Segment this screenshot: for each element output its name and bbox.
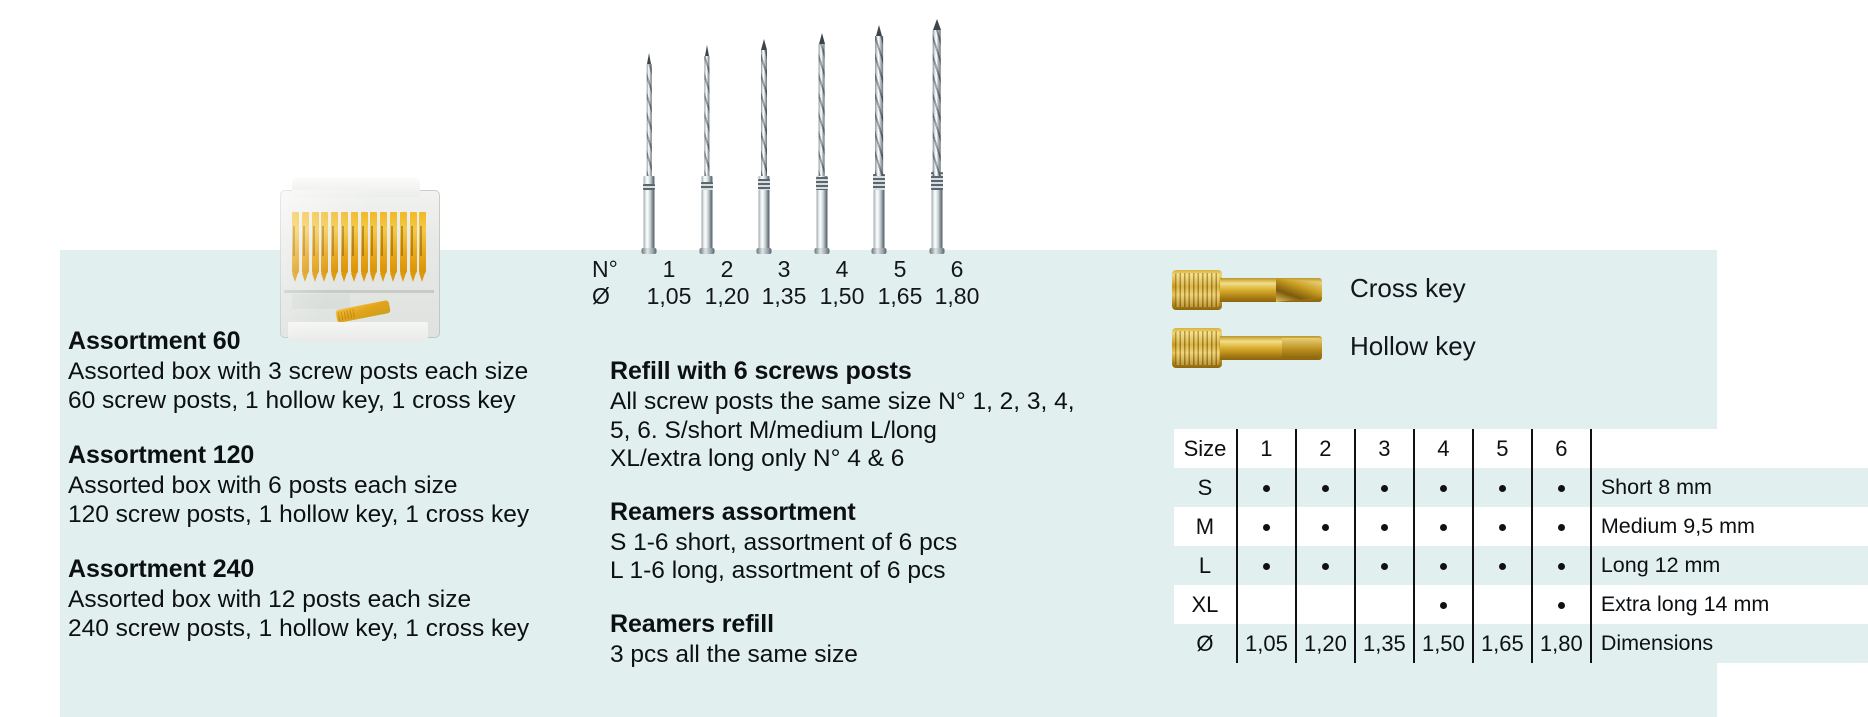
assortment-line: Assorted box with 6 posts each size	[68, 472, 588, 501]
availability-dot-icon	[1558, 524, 1565, 531]
reamer-depth-rings	[643, 184, 655, 190]
availability-dot-icon	[1263, 524, 1270, 531]
box-lid	[292, 177, 420, 197]
availability-dot-icon	[1558, 485, 1565, 492]
reamer-number-row: N° 123456	[586, 256, 1006, 283]
screw-post	[400, 212, 407, 274]
reamer-tip	[761, 39, 767, 50]
reamer-depth-rings	[701, 182, 713, 190]
reamer-collar	[699, 248, 714, 254]
reamer-tip	[819, 33, 825, 44]
reamer-number-1: 1	[641, 256, 697, 283]
size-table-cell-6	[1532, 585, 1591, 624]
size-table-cell-3: 3	[1355, 429, 1414, 468]
size-table-cell-3	[1355, 507, 1414, 546]
size-table-cell-5	[1473, 546, 1532, 585]
size-table-cell-1: 1	[1237, 429, 1296, 468]
reamer-diameter-2: 1,20	[699, 283, 755, 310]
size-table-description: Medium 9,5 mm	[1591, 507, 1868, 546]
key-label: Cross key	[1350, 273, 1466, 304]
reamer-collar	[757, 248, 772, 254]
reamer-flute	[647, 64, 652, 176]
reamer-collar	[642, 248, 657, 254]
size-table-row: XLExtra long 14 mm	[1174, 585, 1868, 624]
reamer-size-legend: N° 123456 Ø 1,051,201,351,501,651,80	[586, 256, 1006, 312]
size-table-row-label: L	[1174, 546, 1237, 585]
assortment-text-column: Assortment 60Assorted box with 3 screw p…	[68, 327, 588, 669]
reamer-diameter-3: 1,35	[756, 283, 812, 310]
assortment-box-image	[268, 172, 454, 348]
size-table-cell-2	[1296, 468, 1355, 507]
reamer-flute	[932, 30, 941, 176]
size-table-cell-1: 1,05	[1237, 624, 1296, 663]
size-table-row-label: XL	[1174, 585, 1237, 624]
assortment-line: Assorted box with 3 screw posts each siz…	[68, 358, 588, 387]
size-table-description: Short 8 mm	[1591, 468, 1868, 507]
reamer-6	[924, 20, 950, 252]
size-table-row-label: Size	[1174, 429, 1237, 468]
refill-text-column: Refill with 6 screws postsAll screw post…	[610, 357, 1130, 693]
refill-line: 5, 6. S/short M/medium L/long	[610, 417, 1130, 446]
size-table-diameter-row: Ø1,051,201,351,501,651,80Dimensions	[1174, 624, 1868, 663]
reamer-diameter-row: Ø 1,051,201,351,501,651,80	[586, 283, 1006, 310]
size-table-row-label: S	[1174, 468, 1237, 507]
screw-post	[419, 212, 426, 274]
availability-dot-icon	[1381, 524, 1388, 531]
availability-dot-icon	[1440, 563, 1447, 570]
refill-block-1: Refill with 6 screws postsAll screw post…	[610, 357, 1130, 474]
reamer-diameter-6: 1,80	[929, 283, 985, 310]
size-table-cell-6: 1,80	[1532, 624, 1591, 663]
size-table-cell-5: 5	[1473, 429, 1532, 468]
size-table-row: SShort 8 mm	[1174, 468, 1868, 507]
size-table-cell-5	[1473, 585, 1532, 624]
reamer-diameter-5: 1,65	[872, 283, 928, 310]
size-table-description: Long 12 mm	[1591, 546, 1868, 585]
availability-dot-icon	[1440, 485, 1447, 492]
reamer-number-4: 4	[814, 256, 870, 283]
reamer-diameter-4: 1,50	[814, 283, 870, 310]
refill-line: 3 pcs all the same size	[610, 641, 1130, 670]
screw-post	[370, 212, 377, 274]
reamer-depth-rings	[758, 179, 770, 190]
size-table-description: Dimensions	[1591, 624, 1868, 663]
reamer-tip	[876, 25, 882, 36]
size-table-description: Extra long 14 mm	[1591, 585, 1868, 624]
size-table-cell-3	[1355, 468, 1414, 507]
reamer-number-3: 3	[756, 256, 812, 283]
screw-post	[410, 212, 417, 274]
reamer-3	[751, 40, 777, 252]
key-row-1: Cross key	[1172, 268, 1692, 316]
reamer-number-2: 2	[699, 256, 755, 283]
size-table-row: MMedium 9,5 mm	[1174, 507, 1868, 546]
reamer-flute	[761, 50, 767, 176]
availability-dot-icon	[1322, 563, 1329, 570]
reamer-number-5: 5	[872, 256, 928, 283]
size-table-cell-4: 1,50	[1414, 624, 1473, 663]
size-table-cell-3	[1355, 585, 1414, 624]
availability-dot-icon	[1440, 524, 1447, 531]
reamer-number-6: 6	[929, 256, 985, 283]
assortment-title: Assortment 240	[68, 555, 588, 584]
size-table-cell-5: 1,65	[1473, 624, 1532, 663]
size-table-cell-2: 1,20	[1296, 624, 1355, 663]
size-table-cell-6	[1532, 468, 1591, 507]
size-table-cell-4	[1414, 585, 1473, 624]
availability-dot-icon	[1263, 563, 1270, 570]
reamer-diameter-label: Ø	[592, 283, 636, 310]
key-shaft	[1220, 278, 1322, 302]
assortment-line: Assorted box with 12 posts each size	[68, 586, 588, 615]
availability-dot-icon	[1499, 524, 1506, 531]
key-knurled-head	[1172, 270, 1222, 310]
availability-dot-icon	[1499, 485, 1506, 492]
key-knurled-head	[1172, 328, 1222, 368]
reamer-flute	[875, 36, 883, 176]
refill-block-3: Reamers refill3 pcs all the same size	[610, 610, 1130, 670]
availability-dot-icon	[1381, 485, 1388, 492]
assortment-block-1: Assortment 60Assorted box with 3 screw p…	[68, 327, 588, 415]
refill-title: Reamers refill	[610, 610, 1130, 639]
assortment-block-3: Assortment 240Assorted box with 12 posts…	[68, 555, 588, 643]
screw-post	[380, 212, 387, 274]
screw-post	[292, 212, 299, 274]
reamer-flute	[704, 56, 709, 176]
reamer-4	[809, 34, 835, 252]
size-table-cell-1	[1237, 585, 1296, 624]
size-table-cell-2: 2	[1296, 429, 1355, 468]
reamer-tip	[647, 53, 651, 64]
size-table-header-row: Size123456	[1174, 429, 1868, 468]
screw-post	[341, 212, 348, 274]
screw-post	[312, 212, 319, 274]
assortment-line: 240 screw posts, 1 hollow key, 1 cross k…	[68, 615, 588, 644]
size-table-cell-2	[1296, 585, 1355, 624]
size-table-cell-1	[1237, 546, 1296, 585]
reamer-collar	[872, 248, 887, 254]
reamer-collar	[929, 248, 944, 254]
reamer-instrument-row	[630, 36, 976, 252]
size-table: Size123456SShort 8 mmMMedium 9,5 mmLLong…	[1174, 429, 1868, 663]
availability-dot-icon	[1322, 485, 1329, 492]
availability-dot-icon	[1381, 563, 1388, 570]
screw-post	[390, 212, 397, 274]
screw-post	[351, 212, 358, 274]
size-table-cell-4	[1414, 546, 1473, 585]
refill-line: All screw posts the same size N° 1, 2, 3…	[610, 388, 1130, 417]
size-table-cell-5	[1473, 468, 1532, 507]
reamer-flute	[818, 44, 825, 176]
size-table-cell-6	[1532, 546, 1591, 585]
availability-dot-icon	[1558, 602, 1565, 609]
availability-dot-icon	[1558, 563, 1565, 570]
size-table-row-label: M	[1174, 507, 1237, 546]
size-table-row-label: Ø	[1174, 624, 1237, 663]
availability-dot-icon	[1499, 563, 1506, 570]
key-shaft	[1220, 336, 1322, 360]
size-table-cell-3: 1,35	[1355, 624, 1414, 663]
assortment-line: 60 screw posts, 1 hollow key, 1 cross ke…	[68, 387, 588, 416]
refill-line: XL/extra long only N° 4 & 6	[610, 445, 1130, 474]
screw-post	[331, 212, 338, 274]
size-table-cell-2	[1296, 507, 1355, 546]
size-table-cell-2	[1296, 546, 1355, 585]
availability-dot-icon	[1440, 602, 1447, 609]
size-table-cell-1	[1237, 468, 1296, 507]
reamer-diameter-1: 1,05	[641, 283, 697, 310]
cross-key-icon	[1172, 268, 1322, 312]
reamer-tip	[705, 45, 709, 56]
key-legend: Cross keyHollow key	[1172, 268, 1692, 388]
refill-block-2: Reamers assortmentS 1-6 short, assortmen…	[610, 498, 1130, 586]
reamer-5	[866, 26, 892, 252]
size-table-cell-6	[1532, 507, 1591, 546]
reamer-collar	[814, 248, 829, 254]
size-table-cell-4: 4	[1414, 429, 1473, 468]
assortment-block-2: Assortment 120Assorted box with 6 posts …	[68, 441, 588, 529]
size-table-cell-1	[1237, 507, 1296, 546]
assortment-title: Assortment 60	[68, 327, 588, 356]
screw-post	[302, 212, 309, 274]
hollow-key-icon	[1172, 326, 1322, 370]
box-label	[292, 294, 350, 309]
size-table-description	[1591, 429, 1868, 468]
size-table-cell-6: 6	[1532, 429, 1591, 468]
reamer-1	[636, 54, 662, 252]
availability-dot-icon	[1263, 485, 1270, 492]
reamer-depth-rings	[873, 174, 885, 190]
key-label: Hollow key	[1350, 331, 1476, 362]
refill-title: Reamers assortment	[610, 498, 1130, 527]
size-table-row: LLong 12 mm	[1174, 546, 1868, 585]
assortment-title: Assortment 120	[68, 441, 588, 470]
availability-dot-icon	[1322, 524, 1329, 531]
screw-post	[321, 212, 328, 274]
screw-post	[361, 212, 368, 274]
reamer-number-label: N°	[592, 256, 636, 283]
size-table-cell-5	[1473, 507, 1532, 546]
size-table-cell-3	[1355, 546, 1414, 585]
assortment-line: 120 screw posts, 1 hollow key, 1 cross k…	[68, 501, 588, 530]
catalog-page: N° 123456 Ø 1,051,201,351,501,651,80 Ass…	[0, 0, 1868, 717]
reamer-depth-rings	[816, 177, 828, 190]
key-row-2: Hollow key	[1172, 326, 1692, 374]
refill-line: S 1-6 short, assortment of 6 pcs	[610, 529, 1130, 558]
refill-line: L 1-6 long, assortment of 6 pcs	[610, 557, 1130, 586]
box-shelf	[284, 290, 434, 293]
size-table-cell-4	[1414, 507, 1473, 546]
size-table-cell-4	[1414, 468, 1473, 507]
reamer-tip	[933, 19, 941, 30]
screw-post-rack	[290, 212, 428, 284]
reamer-2	[694, 46, 720, 252]
refill-title: Refill with 6 screws posts	[610, 357, 1130, 386]
